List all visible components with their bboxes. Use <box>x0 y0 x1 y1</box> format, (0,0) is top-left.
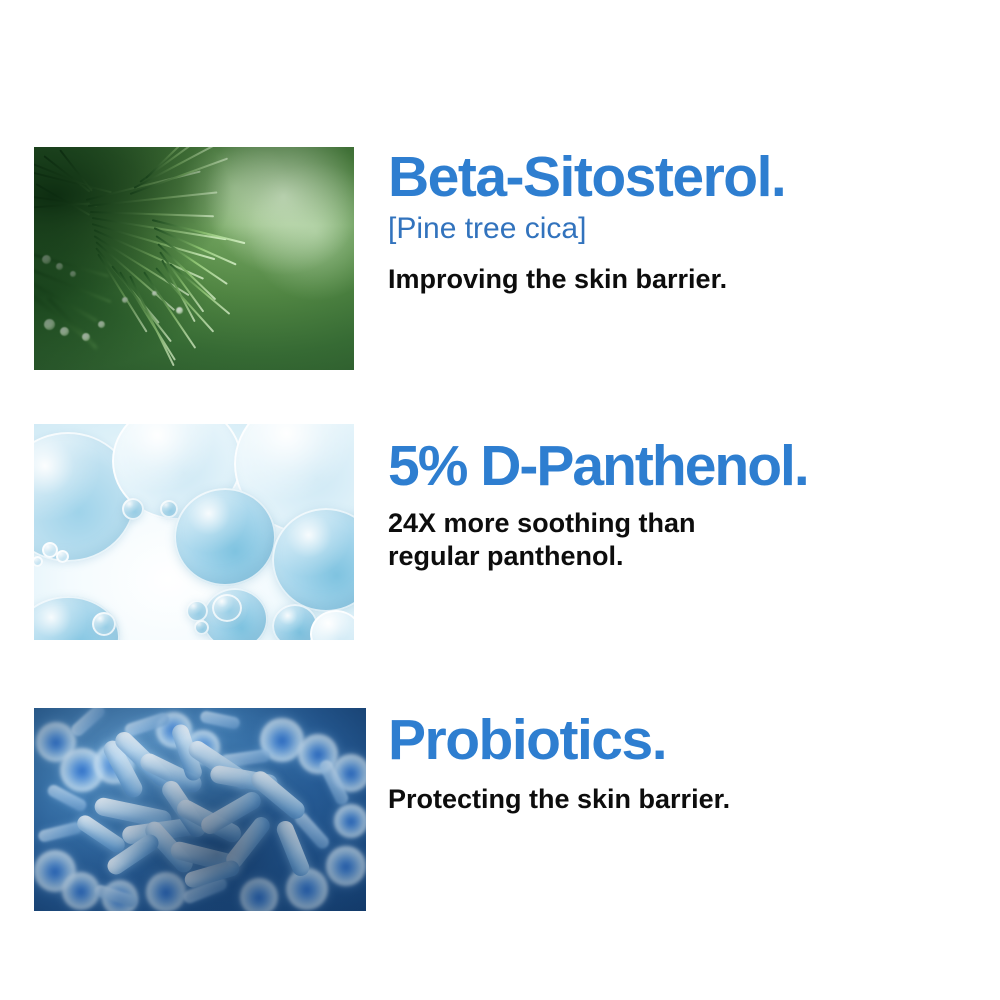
feature-body: Improving the skin barrier. <box>388 263 994 296</box>
ingredient-highlight-page: Beta-Sitosterol. [Pine tree cica] Improv… <box>0 0 1000 1000</box>
feature-copy-d-panthenol: 5% D-Panthenol. 24X more soothing than r… <box>388 424 994 573</box>
feature-block-probiotics: Probiotics. Protecting the skin barrier. <box>34 708 994 911</box>
feature-body-line: Improving the skin barrier. <box>388 263 994 296</box>
feature-copy-beta-sitosterol: Beta-Sitosterol. [Pine tree cica] Improv… <box>388 147 994 295</box>
feature-body: Protecting the skin barrier. <box>388 783 994 816</box>
water-bubbles-photo <box>34 424 354 640</box>
feature-copy-probiotics: Probiotics. Protecting the skin barrier. <box>388 708 994 816</box>
feature-subhead: [Pine tree cica] <box>388 212 994 247</box>
feature-body-line: Protecting the skin barrier. <box>388 783 994 816</box>
feature-body-line: 24X more soothing than <box>388 507 994 540</box>
feature-block-d-panthenol: 5% D-Panthenol. 24X more soothing than r… <box>34 424 994 640</box>
feature-headline: Probiotics. <box>388 712 994 769</box>
pine-shadow-overlay <box>34 147 354 370</box>
microbiome-vignette-overlay <box>34 708 366 911</box>
feature-headline: 5% D-Panthenol. <box>388 438 994 495</box>
probiotic-bacteria-photo <box>34 708 366 911</box>
feature-body: 24X more soothing than regular panthenol… <box>388 507 994 573</box>
pine-tree-branch-photo <box>34 147 354 370</box>
feature-headline: Beta-Sitosterol. <box>388 149 994 206</box>
feature-block-beta-sitosterol: Beta-Sitosterol. [Pine tree cica] Improv… <box>34 147 994 370</box>
feature-body-line: regular panthenol. <box>388 540 994 573</box>
